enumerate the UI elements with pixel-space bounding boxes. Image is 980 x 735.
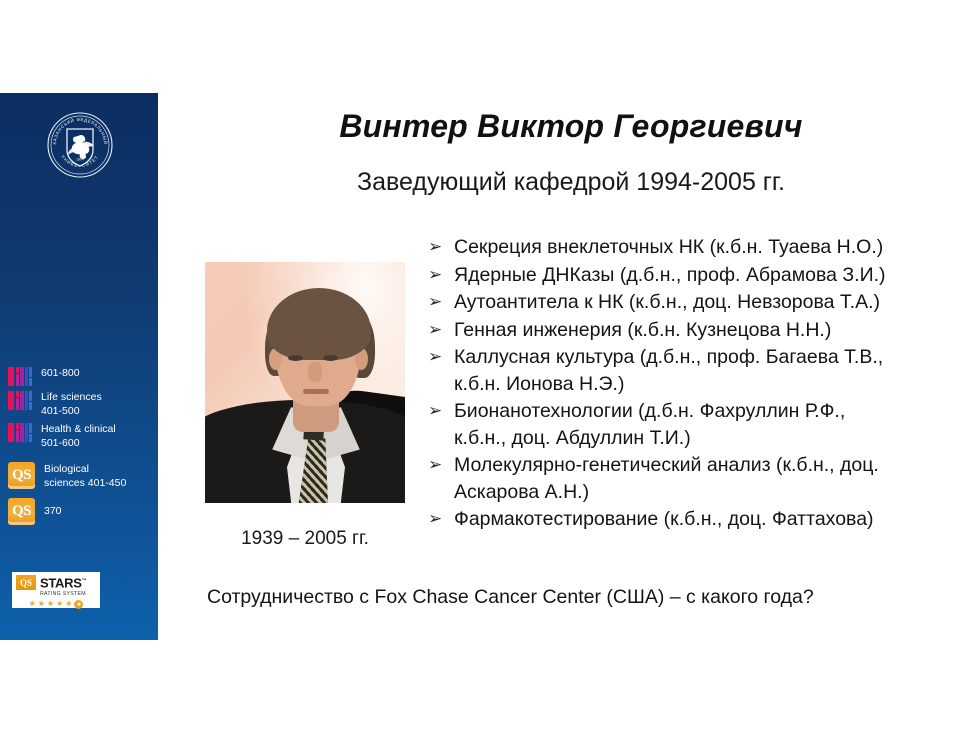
- list-item-label: Аутоантитела к НК (к.б.н., доц. Невзоров…: [454, 289, 880, 316]
- ranking-label: 601-800: [41, 366, 80, 380]
- qs-mark-icon: QS: [16, 575, 36, 590]
- research-topics-list: ➢ Секреция внеклеточных НК (к.б.н. Туаев…: [428, 234, 973, 534]
- portrait-photo: [205, 262, 405, 503]
- list-item-label: Молекулярно-генетический анализ (к.б.н.,…: [454, 452, 879, 505]
- qs-stars-rating: ★ ★ ★ ★ ★ ★: [16, 600, 96, 609]
- ranking-row-the-overall: 601-800: [0, 366, 158, 386]
- svg-text:1804: 1804: [76, 158, 84, 162]
- list-item-label: Секреция внеклеточных НК (к.б.н. Туаева …: [454, 234, 883, 261]
- list-item-label: Фармакотестирование (к.б.н., доц. Фаттах…: [454, 506, 874, 533]
- arrow-bullet-icon: ➢: [428, 452, 454, 479]
- star-icon: ★: [56, 600, 63, 609]
- star-icon: ★: [29, 600, 36, 609]
- qs-stars-wordmark: STARS™: [40, 575, 86, 589]
- qs-logo-icon: QS: [8, 498, 35, 525]
- arrow-bullet-icon: ➢: [428, 317, 454, 344]
- star-icon: ★: [38, 600, 45, 609]
- kfu-emblem-icon: КАЗАНСКИЙ ФЕДЕРАЛЬНЫЙ УНИВЕРСИТЕТ 1804: [47, 112, 113, 178]
- the-logo-icon: [8, 423, 32, 442]
- list-item: ➢ Каллусная культура (д.б.н., проф. Бага…: [428, 344, 973, 397]
- list-item: ➢ Ядерные ДНКазы (д.б.н., проф. Абрамова…: [428, 262, 973, 289]
- list-item: ➢ Фармакотестирование (к.б.н., доц. Фатт…: [428, 506, 973, 533]
- list-item: ➢ Аутоантитела к НК (к.б.н., доц. Невзор…: [428, 289, 973, 316]
- ranking-row-the-health-clinical: Health & clinical 501-600: [0, 422, 158, 450]
- photo-nose: [308, 362, 322, 382]
- ranking-label: 370: [44, 504, 62, 518]
- ranking-label: Health & clinical 501-600: [41, 422, 116, 450]
- qs-stars-badge: QS STARS™ RATING SYSTEM ★ ★ ★ ★ ★ ★: [12, 572, 100, 608]
- photo-eye-left: [288, 355, 303, 361]
- list-item: ➢ Генная инженерия (к.б.н. Кузнецова Н.Н…: [428, 317, 973, 344]
- page-title: Винтер Виктор Георгиевич: [176, 108, 966, 145]
- star-badge-icon: ★: [74, 600, 83, 609]
- photo-mouth: [303, 389, 329, 394]
- ranking-row-qs-biological: QS Biological sciences 401-450: [0, 462, 158, 490]
- trademark-symbol: ™: [82, 578, 87, 584]
- arrow-bullet-icon: ➢: [428, 234, 454, 261]
- footer-question: Сотрудничество с Fox Chase Cancer Center…: [207, 586, 814, 609]
- arrow-bullet-icon: ➢: [428, 398, 454, 425]
- list-item-label: Бионанотехнологии (д.б.н. Фахруллин Р.Ф.…: [454, 398, 845, 451]
- the-logo-icon: [8, 391, 32, 410]
- rankings-list: 601-800 Life sciences 401-500 Health & c…: [0, 366, 158, 529]
- qs-stars-header: QS STARS™: [16, 575, 96, 590]
- arrow-bullet-icon: ➢: [428, 506, 454, 533]
- list-item: ➢ Бионанотехнологии (д.б.н. Фахруллин Р.…: [428, 398, 973, 451]
- qs-logo-icon: QS: [8, 462, 35, 489]
- list-item-label: Каллусная культура (д.б.н., проф. Багаев…: [454, 344, 883, 397]
- photo-caption: 1939 – 2005 гг.: [205, 528, 405, 550]
- ranking-label: Life sciences 401-500: [41, 390, 102, 418]
- arrow-bullet-icon: ➢: [428, 344, 454, 371]
- list-item: ➢ Секреция внеклеточных НК (к.б.н. Туаев…: [428, 234, 973, 261]
- arrow-bullet-icon: ➢: [428, 262, 454, 289]
- slide-canvas: КАЗАНСКИЙ ФЕДЕРАЛЬНЫЙ УНИВЕРСИТЕТ 1804 6…: [0, 0, 980, 735]
- ranking-row-qs-overall: QS 370: [0, 498, 158, 525]
- list-item-label: Генная инженерия (к.б.н. Кузнецова Н.Н.): [454, 317, 831, 344]
- qs-stars-word-text: STARS: [40, 576, 82, 591]
- arrow-bullet-icon: ➢: [428, 289, 454, 316]
- list-item-label: Ядерные ДНКазы (д.б.н., проф. Абрамова З…: [454, 262, 886, 289]
- list-item: ➢ Молекулярно-генетический анализ (к.б.н…: [428, 452, 973, 505]
- page-subtitle: Заведующий кафедрой 1994-2005 гг.: [176, 168, 966, 197]
- the-logo-icon: [8, 367, 32, 386]
- ranking-label: Biological sciences 401-450: [44, 462, 126, 490]
- star-icon: ★: [47, 600, 54, 609]
- star-icon: ★: [65, 600, 72, 609]
- ranking-row-the-life-sciences: Life sciences 401-500: [0, 390, 158, 418]
- qs-stars-subtitle: RATING SYSTEM: [40, 591, 96, 597]
- photo-eye-right: [323, 355, 338, 361]
